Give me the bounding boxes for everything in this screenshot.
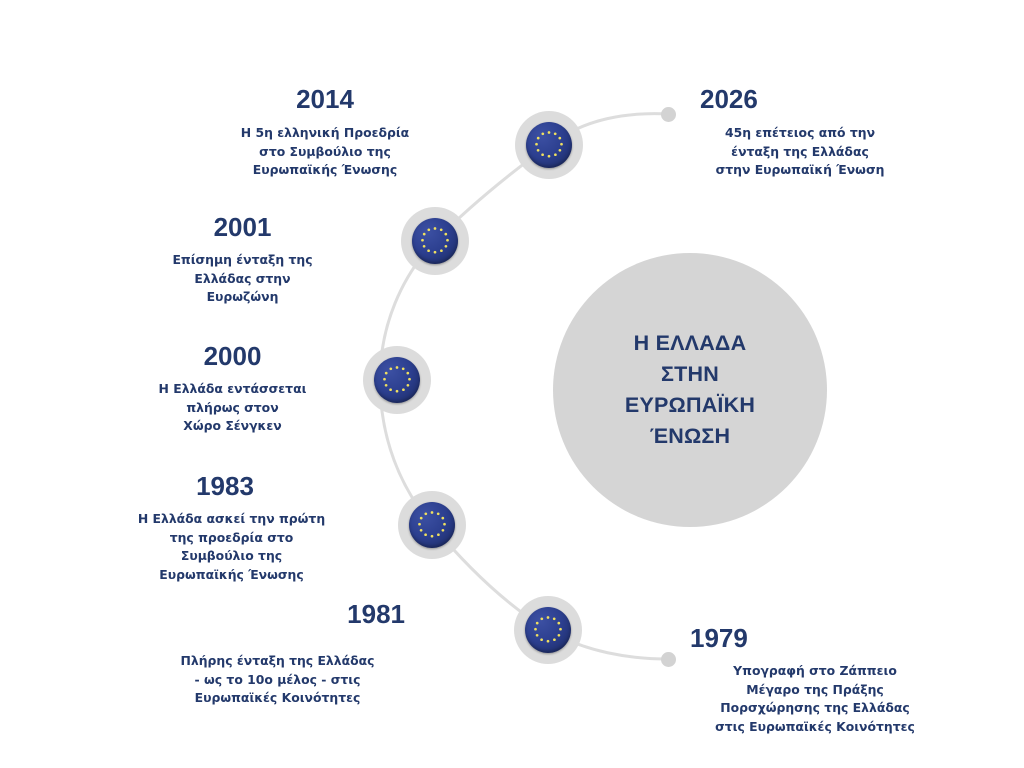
year-label-2026: 2026 [700, 86, 940, 112]
entry-2026: 2026 45η επέτειος από την ένταξη της Ελλ… [700, 86, 940, 180]
caption-2001: Επίσημη ένταξη της Ελλάδας στην Ευρωζώνη [155, 251, 330, 307]
caption-2014: Η 5η ελληνική Προεδρία στο Συμβούλιο της… [225, 124, 425, 180]
caption-1981: Πλήρης ένταξη της Ελλάδας - ως το 10ο μέ… [150, 652, 405, 708]
node-1981[interactable] [514, 596, 582, 664]
entry-1983: 1983 Η Ελλάδα ασκεί την πρώτη της προεδρ… [125, 473, 350, 584]
caption-1983: Η Ελλάδα ασκεί την πρώτη της προεδρία στ… [125, 510, 338, 584]
eu-flag-icon [409, 502, 455, 548]
caption-2026: 45η επέτειος από την ένταξη της Ελλάδας … [700, 124, 900, 180]
year-label-2001: 2001 [155, 214, 330, 240]
node-2000[interactable] [363, 346, 431, 414]
node-2001[interactable] [401, 207, 469, 275]
entry-1979: 1979 Υπογραφή στο Ζάππειο Μέγαρο της Πρά… [690, 625, 940, 736]
entry-2014: 2014 Η 5η ελληνική Προεδρία στο Συμβούλι… [225, 86, 440, 180]
entry-2001: 2001 Επίσημη ένταξη της Ελλάδας στην Ευρ… [155, 214, 355, 307]
eu-flag-icon [525, 607, 571, 653]
hub-title: Η ΕΛΛΑΔΑ ΣΤΗΝ ΕΥΡΩΠΑΪΚΗ ΈΝΩΣΗ [625, 328, 755, 453]
central-hub: Η ΕΛΛΑΔΑ ΣΤΗΝ ΕΥΡΩΠΑΪΚΗ ΈΝΩΣΗ [553, 253, 827, 527]
year-label-1981: 1981 [150, 601, 405, 627]
endcap-top [661, 107, 676, 122]
infographic-canvas: Η ΕΛΛΑΔΑ ΣΤΗΝ ΕΥΡΩΠΑΪΚΗ ΈΝΩΣΗ [0, 0, 1024, 768]
caption-2000: Η Ελλάδα εντάσσεται πλήρως στον Χώρο Σέν… [140, 380, 325, 436]
year-label-1979: 1979 [690, 625, 940, 651]
caption-1979: Υπογραφή στο Ζάππειο Μέγαρο της Πράξης Π… [690, 662, 940, 736]
year-label-1983: 1983 [125, 473, 325, 499]
eu-flag-icon [526, 122, 572, 168]
node-2014[interactable] [515, 111, 583, 179]
endcap-bottom [661, 652, 676, 667]
year-label-2014: 2014 [225, 86, 425, 112]
entry-1981: 1981 Πλήρης ένταξη της Ελλάδας - ως το 1… [150, 601, 405, 708]
entry-2000: 2000 Η Ελλάδα εντάσσεται πλήρως στον Χώρ… [140, 343, 350, 436]
node-1983[interactable] [398, 491, 466, 559]
eu-flag-icon [412, 218, 458, 264]
eu-flag-icon [374, 357, 420, 403]
year-label-2000: 2000 [140, 343, 325, 369]
